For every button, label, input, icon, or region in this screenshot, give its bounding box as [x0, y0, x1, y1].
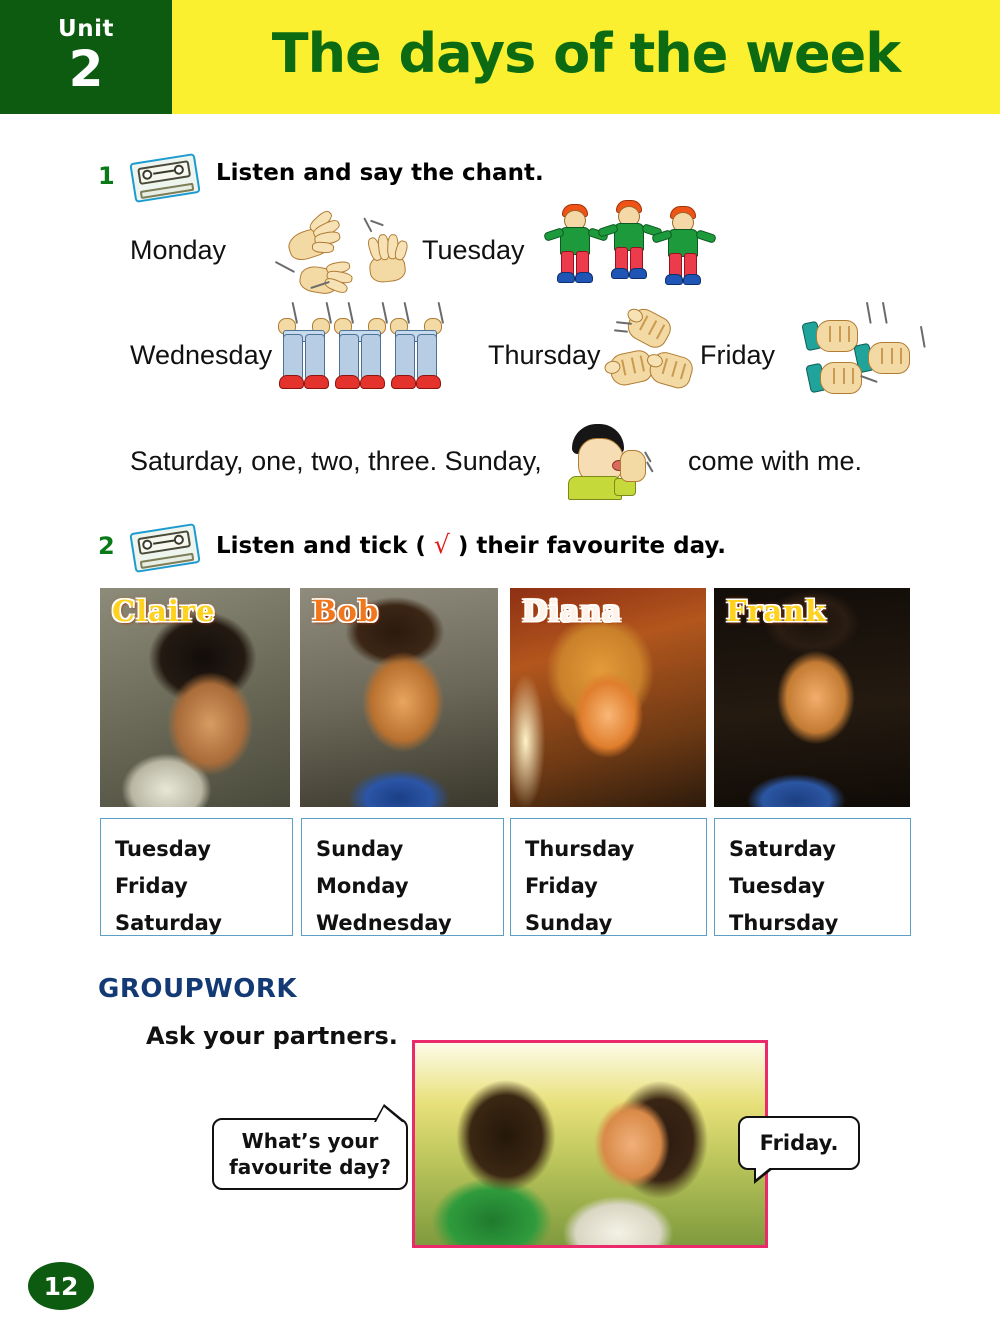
speech-bubble-answer-text: Friday. [760, 1130, 839, 1156]
chant-day-monday: Monday [130, 235, 226, 266]
day-options-diana[interactable]: Thursday Friday Sunday [510, 818, 707, 936]
chant-day-wednesday: Wednesday [130, 340, 272, 371]
tick-icon: √ [434, 530, 450, 559]
exercise-1-instruction: Listen and say the chant. [216, 160, 544, 186]
day-option[interactable]: Tuesday [115, 831, 292, 868]
shouting-boy-icon [562, 424, 648, 498]
day-option[interactable]: Sunday [316, 831, 503, 868]
unit-number: 2 [0, 40, 172, 98]
page-header-banner: Unit 2 The days of the week [0, 0, 1000, 114]
day-option[interactable]: Friday [115, 868, 292, 905]
page-title: The days of the week [172, 0, 1000, 114]
chant-line-saturday-sunday: Saturday, one, two, three. Sunday, [130, 446, 542, 477]
child-photo-diana: Diana [510, 588, 706, 807]
cassette-icon [129, 153, 200, 203]
child-name-frank: Frank [726, 594, 826, 628]
child-photo-bob: Bob [300, 588, 498, 807]
day-option[interactable]: Thursday [729, 905, 910, 942]
clapping-hands-icon [270, 218, 420, 298]
day-option[interactable]: Monday [316, 868, 503, 905]
snapping-fists-icon [800, 308, 940, 398]
child-photo-frank: Frank [714, 588, 910, 807]
pointing-fingers-icon [606, 312, 696, 392]
day-options-frank[interactable]: Saturday Tuesday Thursday [714, 818, 911, 936]
speech-bubble-answer: Friday. [738, 1116, 860, 1170]
child-name-claire: Claire [112, 594, 216, 628]
stomping-legs-icon [278, 312, 478, 396]
day-option[interactable]: Saturday [115, 905, 292, 942]
cassette-icon [129, 523, 200, 573]
day-option[interactable]: Saturday [729, 831, 910, 868]
groupwork-instruction: Ask your partners. [146, 1022, 398, 1050]
child-photo-claire: Claire [100, 588, 290, 807]
speech-bubble-question: What’s your favourite day? [212, 1118, 408, 1190]
day-options-claire[interactable]: Tuesday Friday Saturday [100, 818, 293, 936]
exercise-2-instruction-before: Listen and tick ( [216, 533, 426, 559]
speech-bubble-question-text: What’s your favourite day? [229, 1128, 391, 1180]
groupwork-heading: GROUPWORK [98, 974, 297, 1004]
child-name-bob: Bob [312, 594, 379, 628]
jumping-children-icon [552, 198, 728, 288]
exercise-2-instruction: Listen and tick ( √ ) their favourite da… [216, 530, 726, 559]
chant-line-come-with-me: come with me. [688, 446, 862, 477]
chant-day-friday: Friday [700, 340, 775, 371]
child-name-diana: Diana [522, 594, 622, 628]
bubble-tail-inner-icon [756, 1166, 772, 1179]
exercise-2-number: 2 [98, 532, 115, 560]
chant-day-thursday: Thursday [488, 340, 601, 371]
day-option[interactable]: Thursday [525, 831, 706, 868]
exercise-2-instruction-after: ) their favourite day. [458, 533, 726, 559]
unit-label: Unit [0, 16, 172, 42]
groupwork-photo [412, 1040, 768, 1248]
day-option[interactable]: Tuesday [729, 868, 910, 905]
chant-day-tuesday: Tuesday [422, 235, 525, 266]
exercise-1-number: 1 [98, 162, 115, 190]
bubble-tail-inner-icon [376, 1107, 402, 1122]
day-option[interactable]: Sunday [525, 905, 706, 942]
page-number: 12 [28, 1262, 94, 1310]
day-option[interactable]: Friday [525, 868, 706, 905]
day-options-bob[interactable]: Sunday Monday Wednesday [301, 818, 504, 936]
day-option[interactable]: Wednesday [316, 905, 503, 942]
unit-badge: Unit 2 [0, 0, 172, 114]
